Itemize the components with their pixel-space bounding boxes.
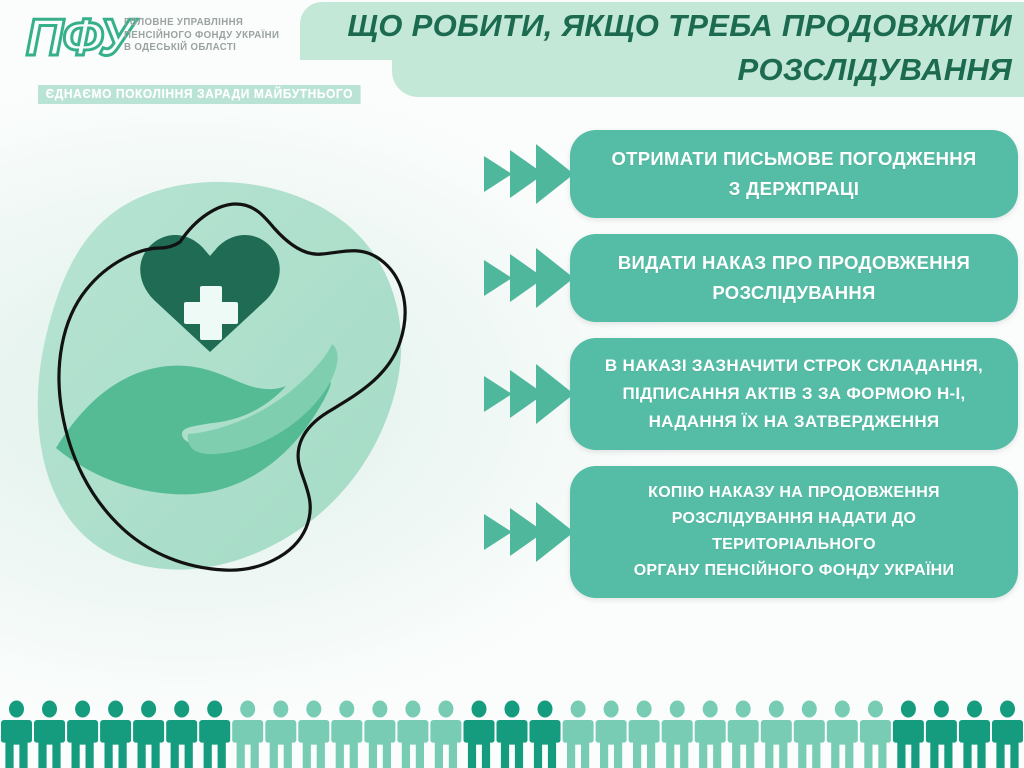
person-pictogram <box>430 701 461 768</box>
person-pictogram <box>563 701 594 768</box>
person-pictogram <box>893 701 924 768</box>
hand-heart-illustration <box>10 160 460 600</box>
header: ЩО РОБИТИ, ЯКЩО ТРЕБА ПРОДОВЖИТИ РОЗСЛІД… <box>0 0 1024 120</box>
person-pictogram <box>596 701 627 768</box>
step-text[interactable]: ВИДАТИ НАКАЗ ПРО ПРОДОВЖЕННЯ РОЗСЛІДУВАН… <box>570 234 1018 322</box>
person-pictogram <box>133 701 164 768</box>
person-pictogram <box>199 701 230 768</box>
person-pictogram <box>761 701 792 768</box>
person-pictogram <box>232 701 263 768</box>
person-pictogram <box>860 701 891 768</box>
person-pictogram <box>959 701 990 768</box>
person-pictogram <box>34 701 65 768</box>
person-pictogram <box>265 701 296 768</box>
step-item: В НАКАЗІ ЗАЗНАЧИТИ СТРОК СКЛАДАННЯ, ПІДП… <box>478 338 1018 450</box>
person-pictogram <box>827 701 858 768</box>
triple-chevron-icon <box>478 136 570 212</box>
person-pictogram <box>298 701 329 768</box>
person-pictogram <box>364 701 395 768</box>
person-pictogram <box>992 701 1023 768</box>
step-text[interactable]: В НАКАЗІ ЗАЗНАЧИТИ СТРОК СКЛАДАННЯ, ПІДП… <box>570 338 1018 450</box>
step-text[interactable]: КОПІЮ НАКАЗУ НА ПРОДОВЖЕННЯ РОЗСЛІДУВАНН… <box>570 466 1018 598</box>
person-pictogram <box>464 701 495 768</box>
person-pictogram <box>1 701 32 768</box>
people-pictogram-row <box>0 696 1024 768</box>
pfu-logo: ПФУ ГОЛОВНЕ УПРАВЛІННЯ ПЕНСІЙНОГО ФОНДУ … <box>20 6 310 106</box>
step-item: ВИДАТИ НАКАЗ ПРО ПРОДОВЖЕННЯ РОЗСЛІДУВАН… <box>478 234 1018 322</box>
person-pictogram <box>67 701 98 768</box>
logo-subtitle: ГОЛОВНЕ УПРАВЛІННЯ ПЕНСІЙНОГО ФОНДУ УКРА… <box>124 16 299 54</box>
person-pictogram <box>530 701 561 768</box>
person-pictogram <box>497 701 528 768</box>
person-pictogram <box>100 701 131 768</box>
person-pictogram <box>695 701 726 768</box>
step-text[interactable]: ОТРИМАТИ ПИСЬМОВЕ ПОГОДЖЕННЯ З ДЕРЖПРАЦІ <box>570 130 1018 218</box>
person-pictogram <box>794 701 825 768</box>
person-pictogram <box>397 701 428 768</box>
person-pictogram <box>728 701 759 768</box>
triple-chevron-icon <box>478 494 570 570</box>
logo-wordmark: ПФУ <box>26 12 133 64</box>
triple-chevron-icon <box>478 240 570 316</box>
steps-list: ОТРИМАТИ ПИСЬМОВЕ ПОГОДЖЕННЯ З ДЕРЖПРАЦІ… <box>478 130 1018 614</box>
page-title: ЩО РОБИТИ, ЯКЩО ТРЕБА ПРОДОВЖИТИ РОЗСЛІД… <box>300 4 1012 92</box>
person-pictogram <box>662 701 693 768</box>
person-pictogram <box>331 701 362 768</box>
step-item: КОПІЮ НАКАЗУ НА ПРОДОВЖЕННЯ РОЗСЛІДУВАНН… <box>478 466 1018 598</box>
infographic-poster: ЩО РОБИТИ, ЯКЩО ТРЕБА ПРОДОВЖИТИ РОЗСЛІД… <box>0 0 1024 768</box>
step-item: ОТРИМАТИ ПИСЬМОВЕ ПОГОДЖЕННЯ З ДЕРЖПРАЦІ <box>478 130 1018 218</box>
person-pictogram <box>926 701 957 768</box>
person-pictogram <box>629 701 660 768</box>
person-pictogram <box>166 701 197 768</box>
triple-chevron-icon <box>478 356 570 432</box>
